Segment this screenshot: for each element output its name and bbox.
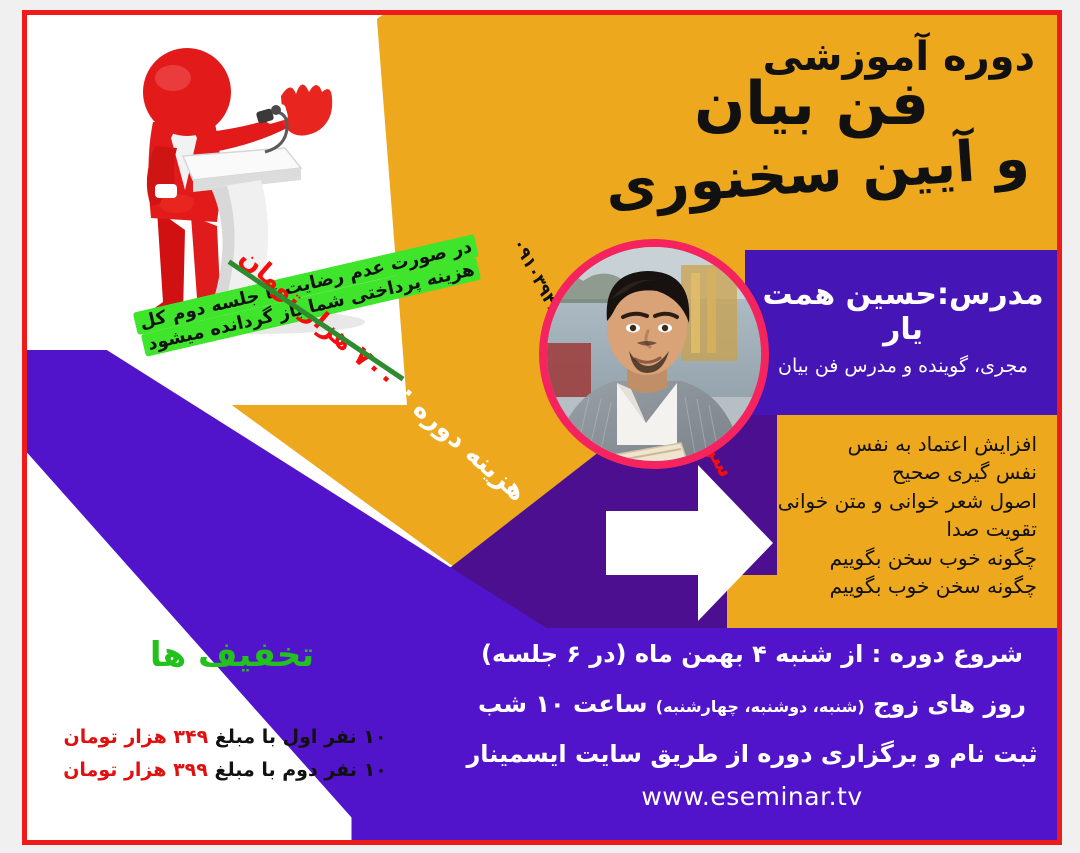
instructor-info: مدرس:حسین همت یار مجری، گوینده و مدرس فن… (753, 277, 1053, 377)
poster-root: دوره آموزشی فن بیان و آیین سخنوری در صور… (0, 0, 1080, 853)
discount-count: ۱۰ نفر دوم با مبلغ (214, 759, 386, 781)
discounts-title: تخفیف ها (67, 635, 397, 675)
topic-item: تقویت صدا (737, 515, 1037, 543)
discount-item: ۱۰ نفر دوم با مبلغ ۳۹۹ هزار تومان (45, 754, 405, 787)
instructor-portrait (539, 247, 761, 469)
schedule-days-time: ساعت ۱۰ شب (478, 690, 647, 718)
poster-title: دوره آموزشی فن بیان و آیین سخنوری (319, 37, 1039, 186)
title-line-1: دوره آموزشی (319, 37, 1039, 78)
instructor-photo (539, 239, 769, 469)
instructor-role: مجری، گوینده و مدرس فن بیان (753, 355, 1053, 377)
discounts-list: ۱۰ نفر اول با مبلغ ۳۴۹ هزار تومان ۱۰ نفر… (45, 721, 405, 788)
topic-item: چگونه سخن خوب بگوییم (737, 572, 1037, 600)
title-line-2: فن بیان (319, 74, 1039, 135)
registration-info: ثبت نام و برگزاری دوره از طریق سایت ایسم… (447, 740, 1057, 768)
discount-unit: هزار تومان (63, 759, 166, 781)
discount-amount: ۳۹۹ (173, 759, 208, 781)
topic-item: چگونه خوب سخن بگوییم (737, 544, 1037, 572)
instructor-name: مدرس:حسین همت یار (753, 277, 1053, 347)
website-url[interactable]: www.eseminar.tv (447, 782, 1057, 811)
schedule-days-main: روز های زوج (873, 690, 1026, 718)
topic-item: نفس گیری صحیح (737, 458, 1037, 486)
schedule-start-date: شروع دوره : از شنبه ۴ بهمن ماه (در ۶ جلس… (447, 640, 1057, 668)
course-topics-list: افزایش اعتماد به نفس نفس گیری صحیح اصول … (737, 430, 1037, 600)
topic-item: اصول شعر خوانی و متن خوانی (737, 487, 1037, 515)
discount-unit: هزار تومان (64, 726, 167, 748)
discount-count: ۱۰ نفر اول با مبلغ (215, 726, 387, 748)
schedule-days-detail: (شنبه، دوشنبه، چهارشنبه) (656, 697, 865, 716)
poster-frame: دوره آموزشی فن بیان و آیین سخنوری در صور… (22, 10, 1062, 845)
topic-item: افزایش اعتماد به نفس (737, 430, 1037, 458)
discount-item: ۱۰ نفر اول با مبلغ ۳۴۹ هزار تومان (45, 721, 405, 754)
discount-amount: ۳۴۹ (173, 726, 208, 748)
schedule-days: روز های زوج (شنبه، دوشنبه، چهارشنبه) ساع… (447, 690, 1057, 718)
schedule-info: شروع دوره : از شنبه ۴ بهمن ماه (در ۶ جلس… (447, 640, 1057, 811)
